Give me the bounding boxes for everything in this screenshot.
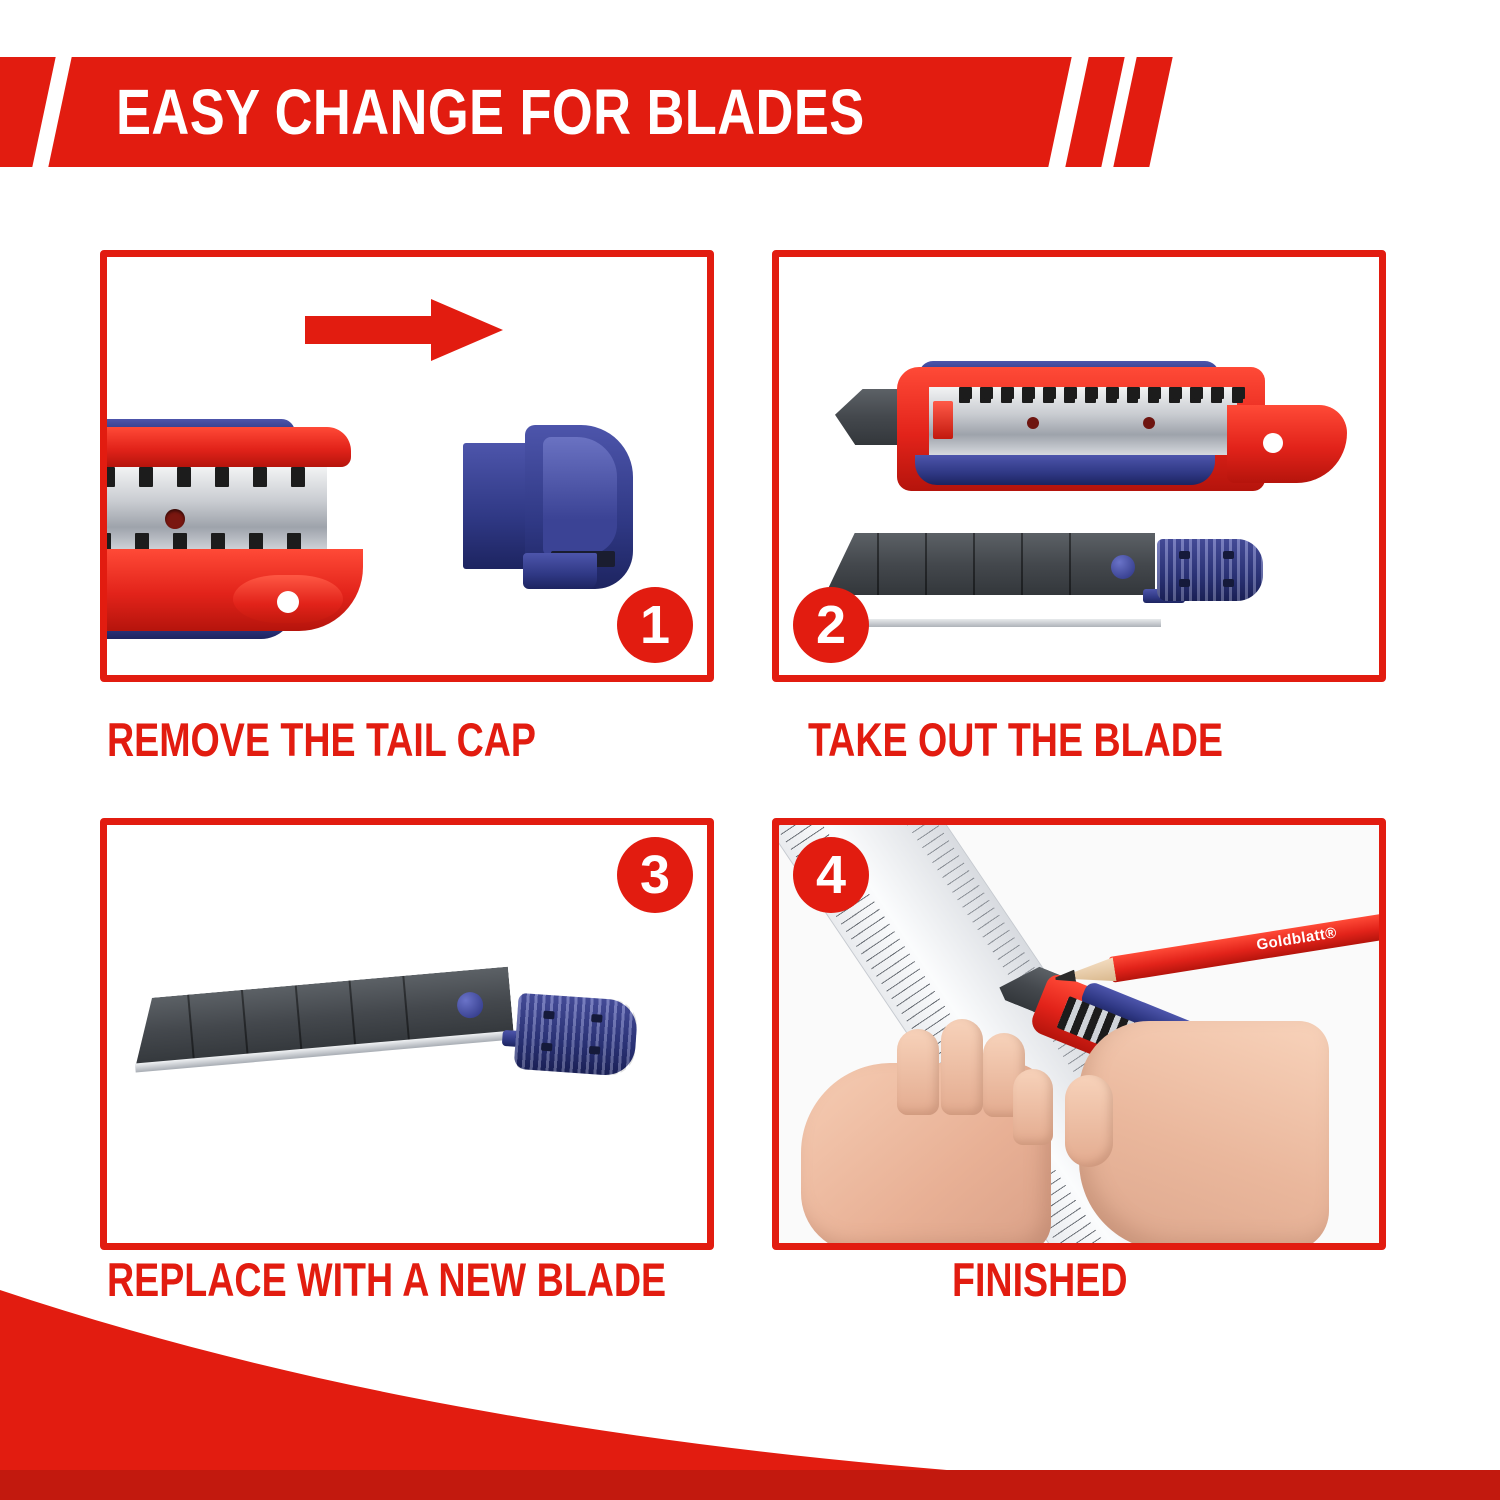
tail-cap-inner-face [543,437,617,555]
knife-blade-track [100,467,327,553]
knife-body-cutaway [100,427,395,623]
finger-2 [941,1019,983,1115]
blade-score-4 [1021,533,1023,595]
step-4-illustration: WORKPRO Goldblatt® [779,825,1379,1243]
new-blade-score-4 [349,980,357,1048]
slider-notch-2 [1223,551,1234,559]
blade-hole-2 [1143,417,1155,429]
slider-notch-3 [1179,579,1190,587]
detached-tail-cap [463,425,633,621]
new-slider-notch-3 [541,1043,553,1052]
bottom-wave-decoration [0,1290,1500,1500]
step-caption-2: TAKE OUT THE BLADE [808,716,1223,763]
pencil-brand-label: Goldblatt® [1255,924,1338,953]
blade-teeth-top [100,467,327,487]
snap-off-blade [825,533,1155,595]
header-banner: EASY CHANGE FOR BLADES [0,57,1500,167]
tooth [253,467,267,487]
blade-slider-grip [1157,539,1263,601]
blade-cutting-edge [825,619,1161,627]
complete-utility-knife [835,361,1315,499]
step-number-badge-4: 4 [793,837,869,913]
step-caption-1: REMOVE THE TAIL CAP [107,716,536,763]
knife-hang-hole [277,591,299,613]
thumb [1065,1075,1113,1167]
carpenter-pencil: Goldblatt® [1109,913,1386,982]
step-number-badge-3: 3 [617,837,693,913]
tooth [1236,387,1245,399]
blade-score-1 [877,533,879,595]
finger-4 [1013,1069,1053,1145]
bottom-bar [0,1470,1500,1500]
step-1-illustration [107,257,707,675]
slider-notch-4 [1223,579,1234,587]
blade-score-2 [925,533,927,595]
blade-score-5 [1069,533,1071,595]
removed-blade-assembly [825,533,1305,623]
new-slider-ridges [514,993,639,1077]
arrow-head [431,299,503,361]
step-panel-4: WORKPRO Goldblatt® [772,818,1386,1250]
new-slider-notch-1 [543,1011,555,1020]
blade-pivot-hole [165,509,185,529]
knife-lower-grip [915,455,1215,485]
step-3-illustration [107,825,707,1243]
tooth [177,467,191,487]
new-slider-notch-2 [591,1014,603,1023]
step-number-badge-1: 1 [617,587,693,663]
header-stripe-2 [1113,57,1172,167]
step-panel-3: 3 [100,818,714,1250]
new-blade-score-3 [295,985,303,1053]
blade-advance-slider [933,401,953,439]
new-blade-assembly [129,951,704,1199]
blade-hole-1 [1027,417,1039,429]
arrow-shaft [305,316,437,344]
left-hand [801,1063,1051,1250]
tooth [139,467,153,487]
step-panel-1: 1 [100,250,714,682]
right-arrow-icon [305,299,503,361]
channel-teeth-top-group [929,387,1237,403]
blade-score-3 [973,533,975,595]
step-2-illustration [779,257,1379,675]
tooth [291,467,305,487]
knife-blade-channel [929,387,1237,455]
new-slider-notch-4 [589,1046,601,1055]
knife-tail-hang-hole [1263,433,1283,453]
tooth [215,467,229,487]
infographic-canvas: EASY CHANGE FOR BLADES [0,0,1500,1500]
knife-top-shell [100,427,351,467]
new-blade-score-5 [402,976,410,1044]
knife-tail-shell [1227,405,1347,483]
right-hand [1079,1021,1329,1250]
new-blade-slider-grip [514,993,639,1077]
slider-notch-1 [1179,551,1190,559]
finger-1 [897,1029,939,1115]
new-blade-score-1 [187,995,195,1063]
page-title: EASY CHANGE FOR BLADES [116,57,865,167]
tooth [101,467,115,487]
step-panel-2: 2 [772,250,1386,682]
step-number-badge-2: 2 [793,587,869,663]
tail-cap-tab [523,553,597,589]
channel-teeth-bottom-group [929,441,1237,455]
blade-stud [1111,555,1135,579]
slider-ridges [1157,539,1263,601]
new-blade-score-2 [241,990,249,1058]
